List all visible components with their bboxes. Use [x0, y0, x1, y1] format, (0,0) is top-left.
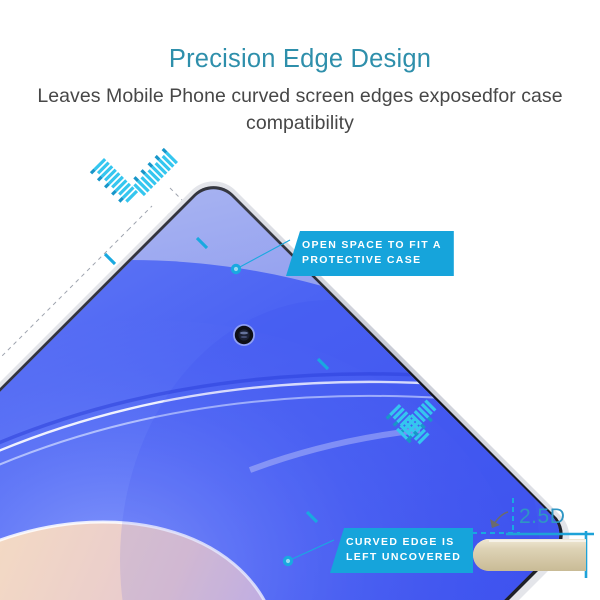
callout-open-space-line-2: PROTECTIVE CASE — [302, 253, 442, 268]
edge-measurement-label: 2.5D — [519, 505, 565, 529]
product-feature-image: Precision Edge Design Leaves Mobile Phon… — [0, 0, 600, 600]
callout-curved-edge-line-1: CURVED EDGE IS — [346, 535, 461, 550]
callout-curved-edge: CURVED EDGE IS LEFT UNCOVERED — [330, 528, 473, 573]
punch-hole-camera-icon — [233, 324, 255, 346]
phone-illustration — [0, 0, 600, 600]
callout-open-space: OPEN SPACE TO FIT A PROTECTIVE CASE — [286, 231, 454, 276]
callout-open-space-line-1: OPEN SPACE TO FIT A — [302, 238, 442, 253]
callout-curved-edge-line-2: LEFT UNCOVERED — [346, 550, 461, 565]
ruler-marker-icon-top — [90, 148, 178, 206]
